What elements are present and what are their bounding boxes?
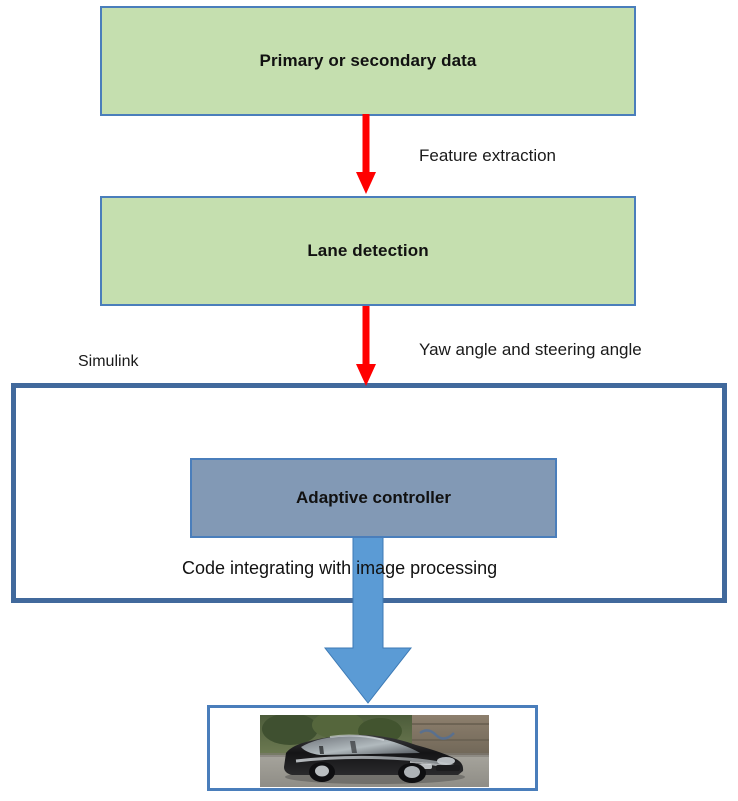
node-adaptive-controller[interactable]: Adaptive controller: [190, 458, 557, 538]
car-photo-image: [260, 715, 489, 787]
edge-label-feature-extraction: Feature extraction: [419, 146, 556, 166]
node-label-primary-or-secondary-data: Primary or secondary data: [260, 51, 477, 71]
label-simulink: Simulink: [78, 353, 138, 371]
node-primary-or-secondary-data[interactable]: Primary or secondary data: [100, 6, 636, 116]
arrow-yaw-steering-angle: [340, 306, 392, 388]
edge-label-code-integrating: Code integrating with image processing: [182, 558, 497, 579]
arrow-feature-extraction: [340, 114, 392, 196]
diagram-canvas: Primary or secondary data Feature extrac…: [0, 0, 738, 801]
edge-label-yaw-steering-angle: Yaw angle and steering angle: [419, 340, 642, 360]
node-label-adaptive-controller: Adaptive controller: [296, 488, 451, 508]
arrow-code-integrating: [322, 520, 414, 705]
node-lane-detection[interactable]: Lane detection: [100, 196, 636, 306]
node-vehicle-photo-frame[interactable]: [207, 705, 538, 791]
node-label-lane-detection: Lane detection: [307, 241, 428, 261]
